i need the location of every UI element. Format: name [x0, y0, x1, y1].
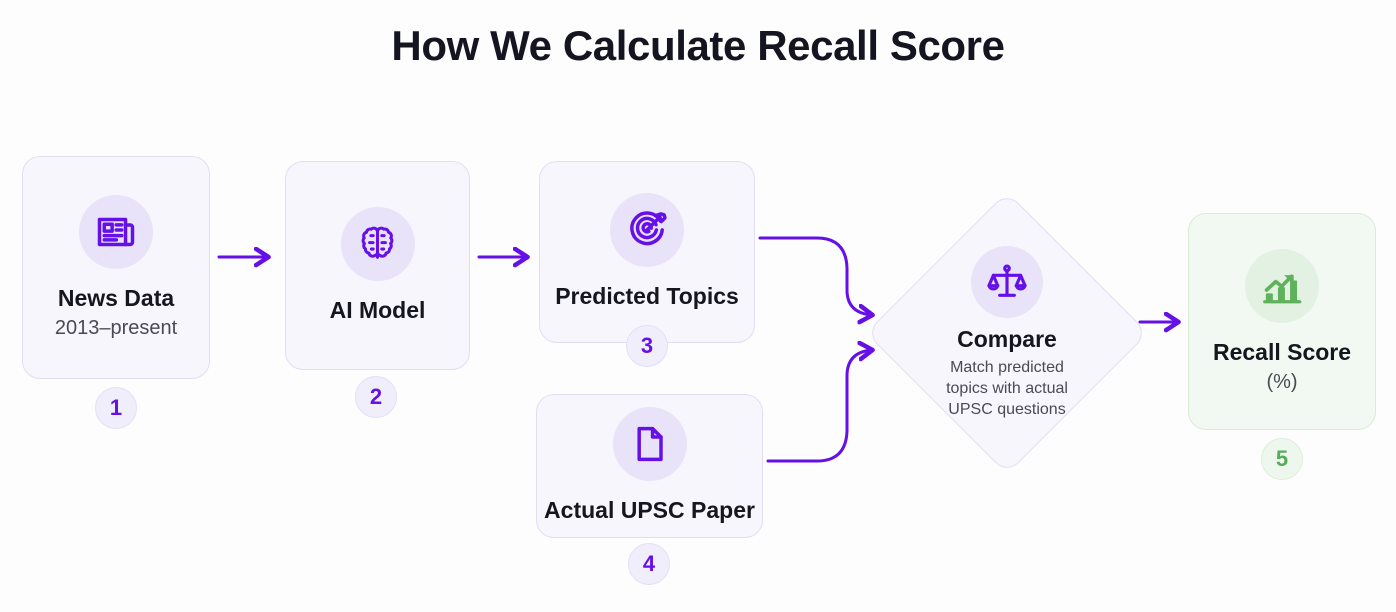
decision-title: Compare [957, 326, 1057, 354]
flow-node-predicted-topics[interactable]: Predicted Topics [539, 161, 755, 343]
step-badge-2: 2 [355, 376, 397, 418]
connector-paper-to-compare [768, 350, 872, 461]
bar-chart-growth-icon [1245, 249, 1319, 323]
node-subtitle: 2013–present [55, 317, 177, 340]
decision-subtitle-line-2: topics with actual [912, 378, 1102, 399]
document-icon [613, 407, 687, 481]
brain-icon [341, 207, 415, 281]
diamond-content: Compare Match predicted topics with actu… [870, 196, 1144, 470]
flow-node-actual-upsc-paper[interactable]: Actual UPSC Paper [536, 394, 763, 538]
step-badge-4: 4 [628, 543, 670, 585]
node-subtitle: (%) [1266, 371, 1297, 394]
flow-node-news-data[interactable]: News Data 2013–present [22, 156, 210, 379]
node-title: Actual UPSC Paper [544, 497, 755, 524]
step-badge-1: 1 [95, 387, 137, 429]
connector-topics-to-compare [760, 238, 872, 315]
decision-subtitle-line-1: Match predicted [912, 357, 1102, 378]
page-title: How We Calculate Recall Score [0, 22, 1396, 70]
node-title: AI Model [330, 297, 426, 324]
flow-node-recall-score[interactable]: Recall Score (%) [1188, 213, 1376, 430]
node-title: Recall Score [1213, 339, 1351, 366]
step-badge-3: 3 [626, 325, 668, 367]
newspaper-icon [79, 195, 153, 269]
node-title: Predicted Topics [555, 283, 739, 310]
scales-balance-icon [971, 246, 1043, 318]
decision-subtitle-line-3: UPSC questions [912, 399, 1102, 420]
flow-decision-compare[interactable]: Compare Match predicted topics with actu… [870, 196, 1144, 470]
step-badge-5: 5 [1261, 438, 1303, 480]
flow-node-ai-model[interactable]: AI Model [285, 161, 470, 370]
node-title: News Data [58, 285, 174, 312]
target-icon [610, 193, 684, 267]
diagram-canvas: How We Calculate Recall Score [0, 0, 1396, 612]
decision-subtitle: Match predicted topics with actual UPSC … [912, 357, 1102, 420]
